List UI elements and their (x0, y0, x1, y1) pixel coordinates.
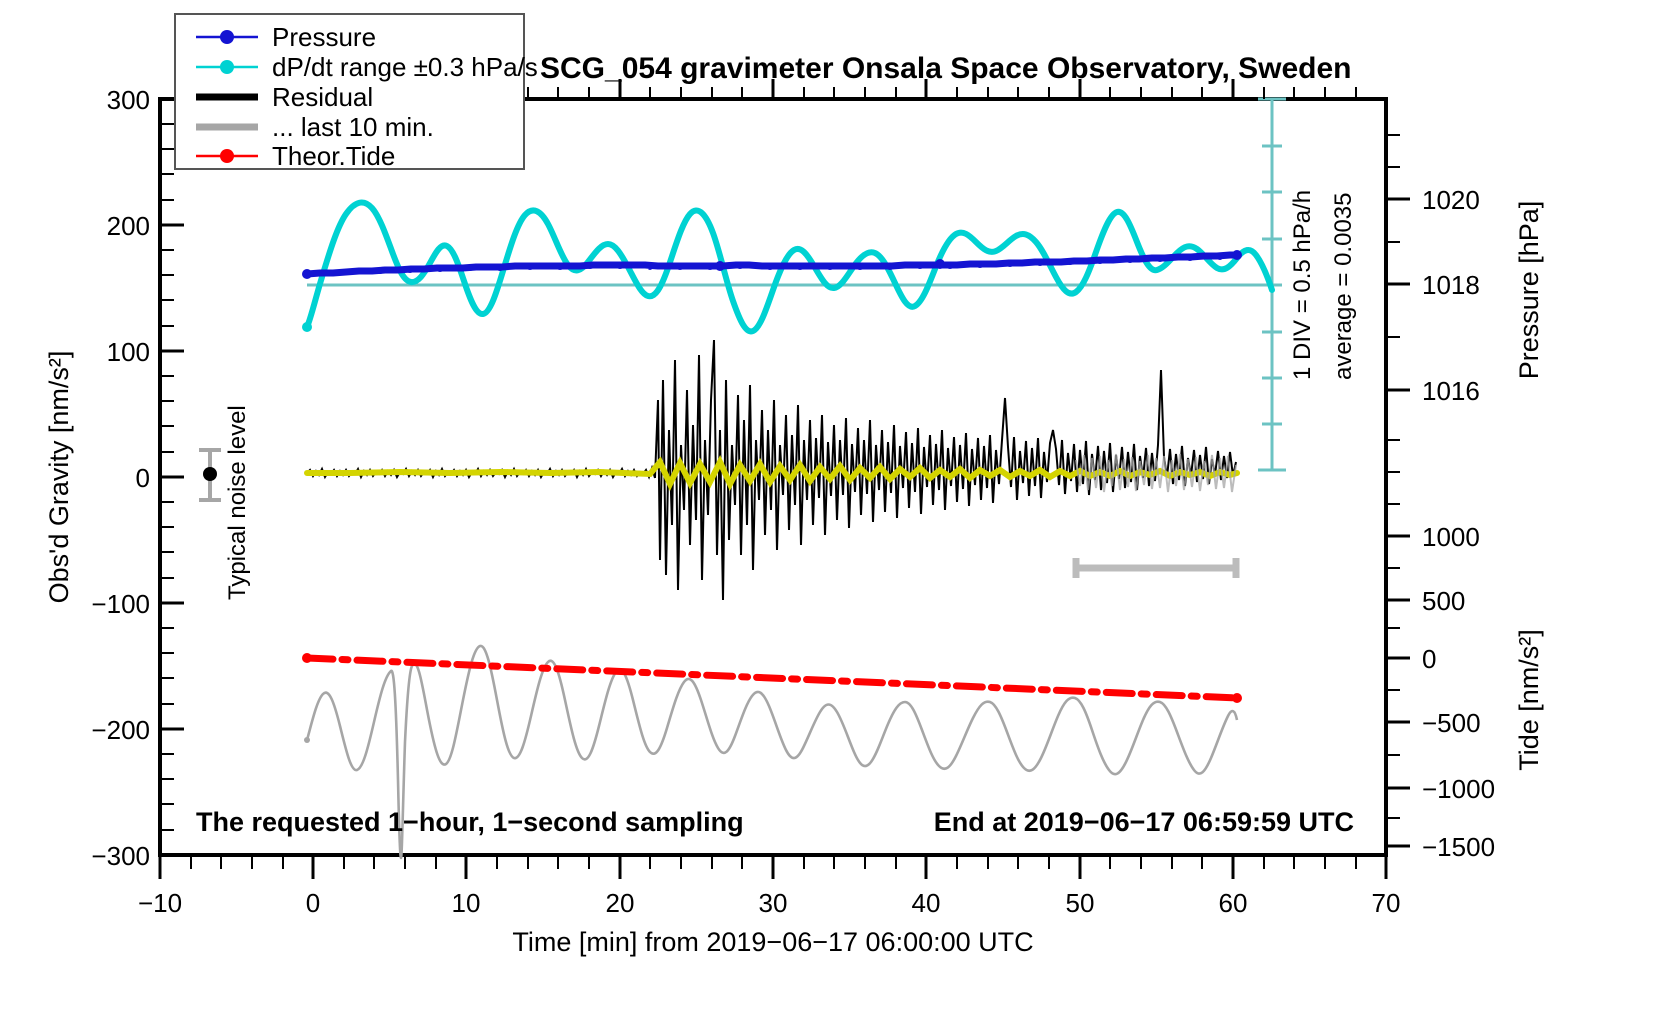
legend-label-last10: ... last 10 min. (272, 112, 434, 142)
svg-text:1018: 1018 (1422, 270, 1480, 300)
svg-text:70: 70 (1372, 888, 1401, 918)
noise-level-label: Typical noise level (224, 405, 251, 600)
svg-text:−500: −500 (1422, 708, 1481, 738)
svg-text:20: 20 (606, 888, 635, 918)
svg-text:60: 60 (1219, 888, 1248, 918)
y-left-axis-title: Obs'd Gravity [nm/s²] (44, 351, 74, 604)
svg-text:40: 40 (912, 888, 941, 918)
svg-text:−300: −300 (91, 841, 150, 871)
svg-text:1016: 1016 (1422, 376, 1480, 406)
plot-title: SCG_054 gravimeter Onsala Space Observat… (540, 52, 1352, 85)
svg-text:−100: −100 (91, 589, 150, 619)
svg-text:500: 500 (1422, 586, 1465, 616)
svg-text:−200: −200 (91, 715, 150, 745)
legend-label-dpdt: dP/dt range ±0.3 hPa/s (272, 52, 538, 82)
plot-canvas: Pressure dP/dt range ±0.3 hPa/s Residual… (0, 0, 1676, 1020)
sampling-note: The requested 1−hour, 1−second sampling (196, 807, 744, 837)
svg-text:10: 10 (452, 888, 481, 918)
end-note: End at 2019−06−17 06:59:59 UTC (934, 807, 1354, 837)
average-label: average = 0.0035 (1330, 193, 1357, 381)
svg-text:200: 200 (107, 211, 150, 241)
svg-text:100: 100 (107, 337, 150, 367)
svg-text:−1000: −1000 (1422, 774, 1495, 804)
svg-text:0: 0 (1422, 644, 1436, 674)
svg-text:30: 30 (759, 888, 788, 918)
legend-label-theor-tide: Theor.Tide (272, 141, 395, 171)
legend[interactable]: Pressure dP/dt range ±0.3 hPa/s Residual… (175, 14, 538, 171)
legend-label-pressure: Pressure (272, 22, 376, 52)
legend-label-residual: Residual (272, 82, 373, 112)
y-right-tide-axis-title: Tide [nm/s²] (1514, 629, 1544, 771)
svg-text:300: 300 (107, 85, 150, 115)
y-right-pressure-axis-title: Pressure [hPa] (1514, 201, 1544, 380)
svg-text:1020: 1020 (1422, 185, 1480, 215)
div-scale-label: 1 DIV = 0.5 hPa/h (1289, 190, 1316, 380)
svg-text:50: 50 (1066, 888, 1095, 918)
svg-text:−1500: −1500 (1422, 832, 1495, 862)
svg-text:−10: −10 (138, 888, 182, 918)
svg-text:1000: 1000 (1422, 522, 1480, 552)
x-axis-title: Time [min] from 2019−06−17 06:00:00 UTC (512, 927, 1033, 957)
svg-text:0: 0 (136, 463, 150, 493)
gravimeter-plot-svg: Pressure dP/dt range ±0.3 hPa/s Residual… (0, 0, 1676, 1020)
svg-text:0: 0 (306, 888, 320, 918)
